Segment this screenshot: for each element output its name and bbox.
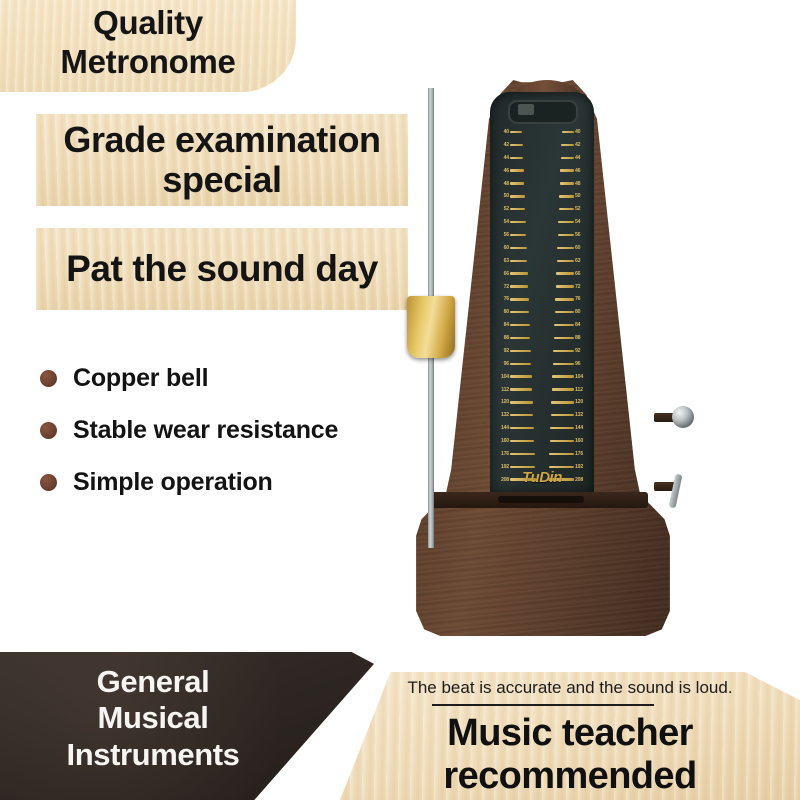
bpm-tick-bar [557, 247, 574, 249]
bpm-tick: 176 [548, 450, 588, 458]
bpm-tick: 66 [555, 270, 588, 278]
bpm-tick: 48 [496, 180, 525, 188]
tag-grade-examination: Grade examination special [36, 114, 408, 206]
feature-label: Simple operation [73, 468, 273, 497]
bpm-tick-label: 112 [496, 387, 509, 393]
bpm-tick-label: 144 [575, 425, 588, 431]
bpm-tick: 160 [549, 437, 588, 445]
bpm-tick-label: 48 [575, 181, 588, 187]
bpm-tick-label: 42 [496, 142, 509, 148]
bpm-tick-bar [556, 272, 574, 274]
bpm-tick-bar [552, 375, 574, 377]
bpm-tick: 46 [496, 167, 525, 175]
bpm-tick-bar [551, 401, 574, 403]
bpm-tick: 104 [496, 373, 533, 381]
metronome-ledge-slot [498, 496, 584, 503]
bpm-tick-label: 54 [496, 219, 509, 225]
bpm-tick-label: 92 [496, 348, 509, 354]
bpm-tick-label: 160 [575, 438, 588, 444]
bpm-tick: 144 [496, 424, 535, 432]
bpm-tick: 63 [556, 257, 588, 265]
product-advertisement-page: Quality Metronome Grade examination spec… [0, 0, 800, 800]
bpm-tick: 42 [560, 141, 588, 149]
bpm-tick-bar [555, 311, 574, 313]
bpm-tick-label: 50 [575, 193, 588, 199]
bpm-tick-bar [558, 221, 574, 223]
bpm-tick-bar [510, 195, 525, 197]
bpm-tick-bar [550, 427, 574, 429]
bpm-tick-label: 120 [496, 399, 509, 405]
bpm-tick: 120 [496, 398, 534, 406]
bullet-dot-icon [40, 422, 57, 439]
bpm-tick-label: 56 [575, 232, 588, 238]
bpm-tick: 84 [496, 321, 531, 329]
bpm-tick-bar [560, 169, 574, 171]
bpm-tick-bar [510, 157, 523, 159]
bpm-tick-bar [510, 324, 530, 326]
bpm-tick: 56 [557, 231, 588, 239]
bpm-tick-bar [510, 169, 524, 171]
bpm-tick-label: 54 [575, 219, 588, 225]
bpm-tick-label: 40 [496, 129, 509, 135]
bpm-tick: 72 [496, 283, 529, 291]
bpm-tick-bar [551, 414, 574, 416]
bpm-tick: 88 [553, 334, 588, 342]
metronome-product-image: 4042444648505254566063667276808488929610… [378, 66, 698, 636]
bpm-tick-bar [510, 466, 535, 468]
bpm-tick-label: 160 [496, 438, 509, 444]
bpm-tick-bar [559, 195, 574, 197]
bpm-tick: 76 [554, 295, 588, 303]
bpm-tick-bar [549, 466, 574, 468]
bpm-tick-label: 84 [496, 322, 509, 328]
bpm-tick-bar [510, 401, 533, 403]
page-title: Quality Metronome [0, 4, 296, 82]
divider [432, 704, 654, 706]
bpm-tick-label: 132 [496, 412, 509, 418]
bpm-tick-bar [560, 182, 574, 184]
bpm-tick: 96 [496, 360, 532, 368]
bpm-tick-label: 80 [496, 309, 509, 315]
bpm-tick-bar [549, 453, 574, 455]
bpm-tick-label: 112 [575, 387, 588, 393]
bpm-tick-bar [510, 144, 523, 146]
bpm-tick-label: 60 [496, 245, 509, 251]
bpm-tick-bar [510, 363, 531, 365]
bpm-tick-bar [510, 234, 526, 236]
bpm-tick-label: 84 [575, 322, 588, 328]
bpm-tick: 72 [555, 283, 588, 291]
bpm-tick: 76 [496, 295, 530, 303]
bpm-tick: 112 [551, 386, 588, 394]
bpm-tick-label: 176 [575, 451, 588, 457]
bpm-tick: 54 [557, 218, 588, 226]
bpm-tick-label: 40 [575, 129, 588, 135]
bpm-tick-bar [510, 260, 527, 262]
bullet-dot-icon [40, 370, 57, 387]
bpm-scale-left: 4042444648505254566063667276808488929610… [496, 128, 540, 484]
bpm-tick-bar [561, 157, 574, 159]
bullet-dot-icon [40, 474, 57, 491]
bpm-tick-bar [553, 350, 574, 352]
bpm-tick: 96 [552, 360, 588, 368]
bpm-tick: 42 [496, 141, 524, 149]
bpm-tick-label: 92 [575, 348, 588, 354]
bpm-tick-label: 76 [575, 296, 588, 302]
bpm-tick-bar [510, 350, 531, 352]
knob-head [672, 406, 694, 428]
metronome-face-plate: 4042444648505254566063667276808488929610… [490, 92, 594, 494]
bpm-tick-label: 104 [496, 374, 509, 380]
bpm-tick: 46 [559, 167, 588, 175]
bpm-tick-label: 88 [496, 335, 509, 341]
bpm-tick-label: 52 [575, 206, 588, 212]
bpm-tick: 176 [496, 450, 536, 458]
bpm-tick-bar [510, 208, 525, 210]
bpm-tick-label: 42 [575, 142, 588, 148]
bpm-tick-label: 56 [496, 232, 509, 238]
bpm-tick-label: 63 [496, 258, 509, 264]
bpm-tick-bar [561, 144, 574, 146]
bpm-tick: 40 [496, 128, 523, 136]
bpm-tick-bar [555, 298, 574, 300]
bpm-tick-bar [510, 285, 528, 287]
bpm-tick-label: 60 [575, 245, 588, 251]
bpm-tick-bar [557, 260, 574, 262]
bpm-tick-label: 66 [575, 271, 588, 277]
bpm-tick: 50 [558, 192, 588, 200]
bpm-tick: 92 [552, 347, 588, 355]
bpm-tick-bar [510, 298, 529, 300]
bpm-tick-bar [510, 337, 530, 339]
bpm-tick: 160 [496, 437, 535, 445]
bpm-tick-label: 76 [496, 296, 509, 302]
bpm-tick: 60 [496, 244, 528, 252]
bpm-tick-label: 72 [496, 284, 509, 290]
feature-label: Stable wear resistance [73, 416, 338, 445]
bpm-tick-bar [510, 272, 528, 274]
bpm-tick: 80 [496, 308, 530, 316]
list-item: Simple operation [40, 456, 420, 508]
bpm-tick: 40 [561, 128, 588, 136]
bpm-tick-bar [510, 375, 532, 377]
bpm-tick-label: 66 [496, 271, 509, 277]
bpm-tick-label: 48 [496, 181, 509, 187]
bpm-tick-bar [554, 324, 574, 326]
bpm-tick: 104 [551, 373, 588, 381]
bpm-tick: 80 [554, 308, 588, 316]
bpm-tick: 54 [496, 218, 527, 226]
bpm-tick: 132 [496, 411, 534, 419]
bpm-tick: 120 [550, 398, 588, 406]
feature-list: Copper bell Stable wear resistance Simpl… [40, 352, 420, 508]
bpm-tick: 50 [496, 192, 526, 200]
bpm-tick-bar [510, 427, 534, 429]
bpm-tick-bar [556, 285, 574, 287]
bpm-tick-bar [510, 414, 533, 416]
tag-grade-examination-label: Grade examination special [63, 120, 380, 201]
tag-pat-the-sound-day-label: Pat the sound day [66, 248, 378, 290]
bpm-tick-bar [554, 337, 574, 339]
bpm-tick-label: 50 [496, 193, 509, 199]
bpm-tick-bar [510, 453, 535, 455]
bpm-tick-bar [562, 131, 574, 133]
bpm-tick-bar [550, 440, 574, 442]
knob-lever [669, 474, 683, 509]
bpm-tick: 52 [496, 205, 526, 213]
bpm-tick-label: 132 [575, 412, 588, 418]
bpm-tick-bar [510, 131, 522, 133]
bpm-tick-label: 46 [496, 168, 509, 174]
bpm-scale-right: 4042444648505254566063667276808488929610… [544, 128, 588, 484]
bpm-tick-label: 104 [575, 374, 588, 380]
bpm-tick-label: 96 [575, 361, 588, 367]
bpm-tick-label: 144 [496, 425, 509, 431]
bpm-tick: 48 [559, 180, 588, 188]
brand-logo: TuDin [490, 469, 594, 486]
bpm-tick: 92 [496, 347, 532, 355]
bpm-tick-bar [552, 388, 574, 390]
bpm-tick: 84 [553, 321, 588, 329]
bpm-tick-label: 46 [575, 168, 588, 174]
bpm-tick: 132 [550, 411, 588, 419]
feature-label: Copper bell [73, 364, 208, 393]
bpm-tick: 44 [560, 154, 588, 162]
bpm-tick: 66 [496, 270, 529, 278]
bpm-tick-label: 63 [575, 258, 588, 264]
pendulum-weight-slider[interactable] [407, 296, 455, 358]
bpm-tick: 60 [556, 244, 588, 252]
bpm-tick-label: 44 [575, 155, 588, 161]
bpm-tick-label: 72 [575, 284, 588, 290]
list-item: Stable wear resistance [40, 404, 420, 456]
bpm-tick-bar [510, 388, 532, 390]
bpm-tick-bar [510, 221, 526, 223]
pendulum-hook-slot [518, 104, 534, 115]
bpm-tick-label: 96 [496, 361, 509, 367]
general-musical-instruments-label: General Musical Instruments [8, 664, 298, 773]
bpm-tick-label: 52 [496, 206, 509, 212]
bpm-tick: 44 [496, 154, 524, 162]
bpm-tick-bar [510, 247, 527, 249]
bpm-tick-label: 120 [575, 399, 588, 405]
bpm-tick-bar [553, 363, 574, 365]
bpm-tick-label: 80 [575, 309, 588, 315]
bpm-tick-bar [510, 182, 524, 184]
bpm-tick-label: 176 [496, 451, 509, 457]
bpm-tick: 56 [496, 231, 527, 239]
tag-pat-the-sound-day: Pat the sound day [36, 228, 408, 310]
bpm-tick: 144 [549, 424, 588, 432]
bpm-tick: 52 [558, 205, 588, 213]
bpm-tick: 63 [496, 257, 528, 265]
bpm-tick: 112 [496, 386, 533, 394]
beat-accuracy-subtitle: The beat is accurate and the sound is lo… [355, 678, 785, 698]
bpm-tick-bar [558, 234, 574, 236]
bpm-tick-label: 44 [496, 155, 509, 161]
bpm-tick-label: 88 [575, 335, 588, 341]
bpm-tick-bar [510, 311, 529, 313]
music-teacher-headline: Music teacher recommended [352, 712, 788, 797]
bpm-tick: 88 [496, 334, 531, 342]
bpm-tick-bar [559, 208, 574, 210]
bpm-tick-bar [510, 440, 534, 442]
list-item: Copper bell [40, 352, 420, 404]
